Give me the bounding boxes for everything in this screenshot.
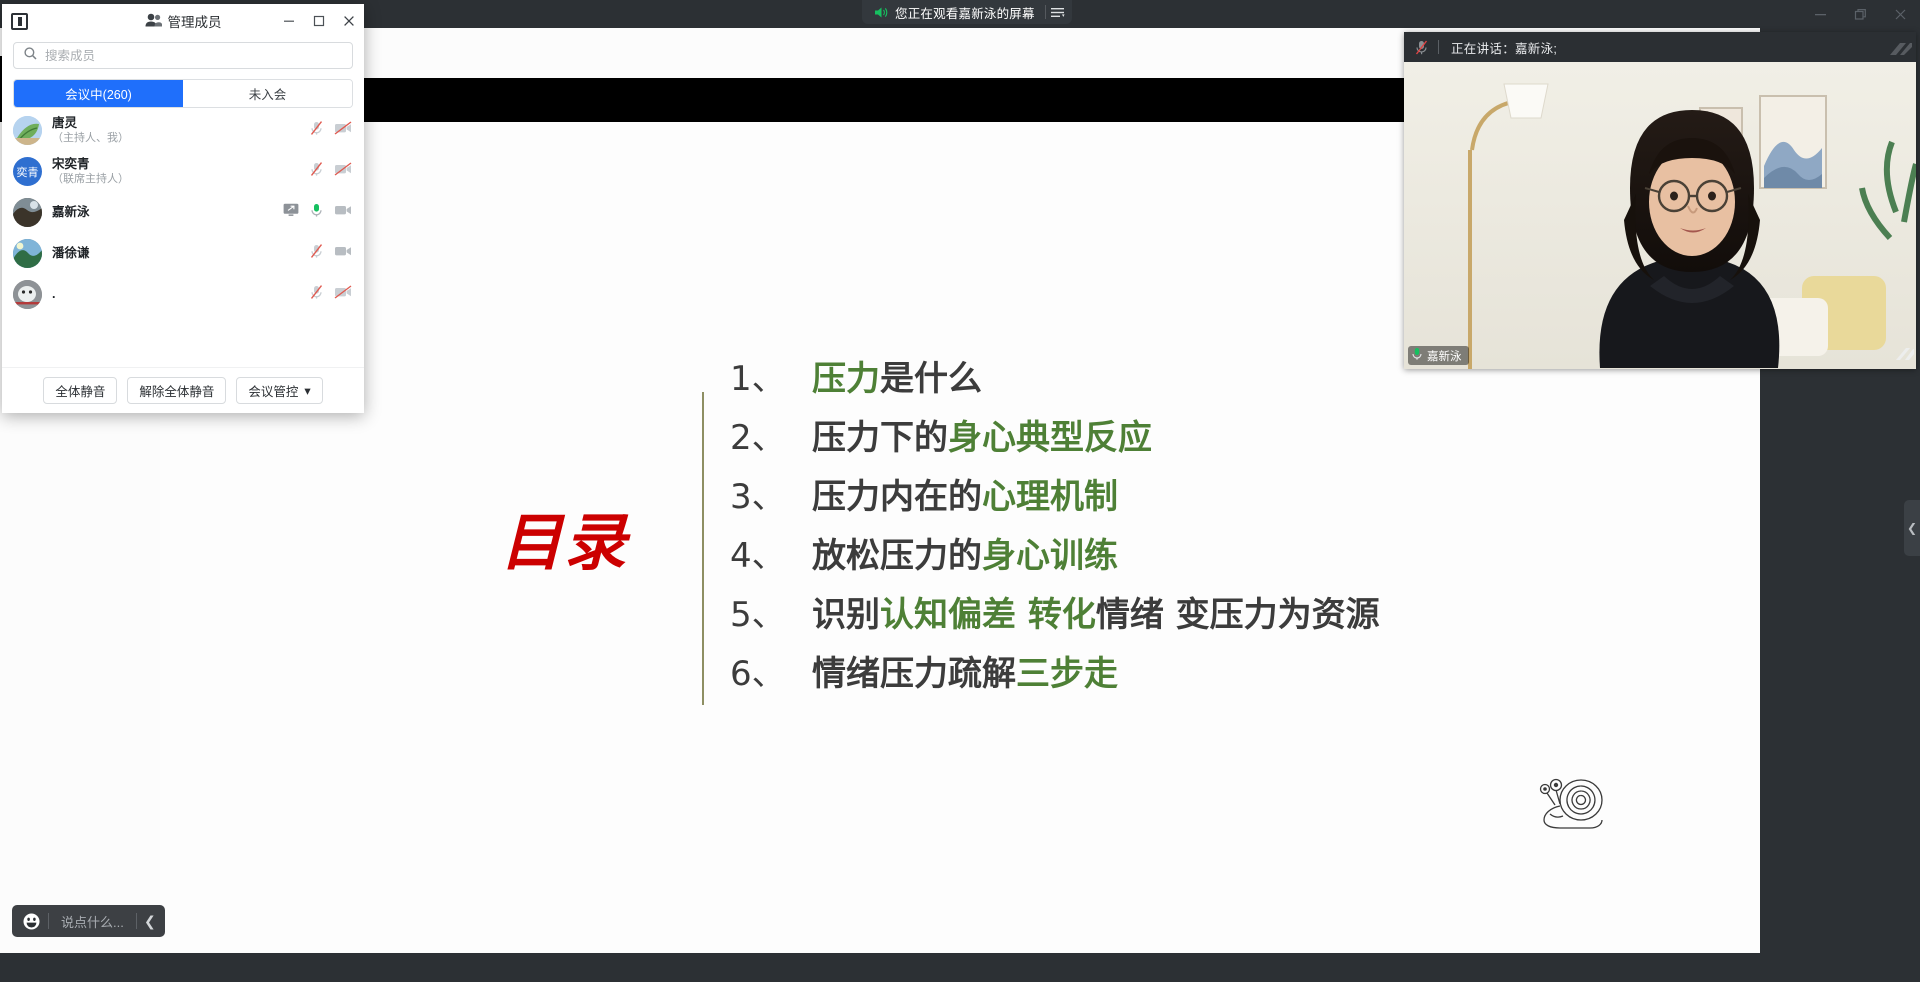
speaker-icon: [864, 6, 895, 19]
snail-illustration: [1536, 770, 1608, 832]
speaker-video-panel[interactable]: 正在讲话：嘉新泳;: [1404, 32, 1916, 369]
participants-window-titlebar[interactable]: 管理成员: [2, 4, 364, 38]
chat-input-placeholder[interactable]: 说点什么...: [49, 912, 136, 931]
video-name-tag: 嘉新泳: [1408, 346, 1469, 365]
screen-share-icon[interactable]: [283, 203, 299, 222]
window-close-button[interactable]: [1880, 0, 1920, 28]
app-root: 目录 1、压力是什么2、压力下的身心典型反应3、压力内在的心理机制4、放松压力的…: [0, 0, 1920, 982]
mic-on-icon[interactable]: [309, 202, 324, 223]
slide-title: 目录: [500, 492, 628, 582]
more-menu-icon[interactable]: [1046, 0, 1070, 24]
search-icon: [24, 47, 37, 65]
participant-name: 潘徐谦: [52, 246, 309, 262]
meeting-control-label: 会议管控: [248, 381, 298, 400]
participant-role: （主持人、我）: [52, 131, 309, 145]
slide-divider: [702, 392, 704, 705]
avatar: 奕青: [13, 157, 42, 186]
participant-role: （联席主持人）: [52, 172, 309, 186]
mic-muted-icon[interactable]: [309, 243, 324, 264]
slide-toc-item: 5、识别认知偏差 转化情绪 变压力为资源: [730, 598, 1710, 632]
participant-status-icons: [309, 284, 352, 305]
slide-toc-item: 3、压力内在的心理机制: [730, 480, 1710, 514]
slide-toc-text: 三步走: [1016, 657, 1118, 691]
slide-toc-item: 4、放松压力的身心训练: [730, 539, 1710, 573]
slide-toc-item: 6、情绪压力疏解三步走: [730, 657, 1710, 691]
participant-status-icons: [309, 243, 352, 264]
slide-toc-number: 2、: [730, 421, 812, 455]
camera-muted-icon[interactable]: [334, 162, 352, 181]
slide-toc-text: 压力下的: [812, 421, 948, 455]
participant-name-block: .: [52, 287, 309, 303]
slide-toc-number: 3、: [730, 480, 812, 514]
video-name-tag-label: 嘉新泳: [1427, 348, 1462, 364]
slide-toc-text: 压力: [812, 362, 880, 396]
participant-name: 嘉新泳: [52, 205, 283, 221]
participant-row[interactable]: 奕青宋奕青（联席主持人）: [2, 151, 364, 192]
chat-collapse-icon[interactable]: ❮: [137, 905, 163, 937]
mic-muted-icon[interactable]: [1404, 39, 1438, 56]
slide-toc-item: 2、压力下的身心典型反应: [730, 421, 1710, 455]
participant-name: 宋奕青: [52, 157, 309, 173]
participants-maximize-button[interactable]: [304, 4, 334, 38]
participants-footer[interactable]: 全体静音 解除全体静音 会议管控 ▾: [2, 367, 364, 413]
slide-toc-text: 心理机制: [982, 480, 1118, 514]
avatar: [13, 198, 42, 227]
participants-close-button[interactable]: [334, 4, 364, 38]
participant-row[interactable]: 潘徐谦: [2, 233, 364, 274]
mic-muted-icon[interactable]: [309, 120, 324, 141]
chat-input-bar[interactable]: 说点什么... ❮: [12, 905, 165, 937]
mic-on-icon: [1411, 347, 1423, 364]
chevron-down-icon: ▾: [304, 383, 310, 398]
video-panel-header[interactable]: 正在讲话：嘉新泳;: [1404, 32, 1916, 62]
emoji-smile-icon[interactable]: [14, 905, 48, 937]
slide-toc-text: 是什么: [880, 362, 982, 396]
participant-name: 唐灵: [52, 116, 309, 132]
participant-row[interactable]: 唐灵（主持人、我）: [2, 110, 364, 151]
slide-toc-number: 6、: [730, 657, 812, 691]
sharing-status-banner[interactable]: 您正在观看嘉新泳的屏幕: [862, 0, 1072, 24]
avatar: [13, 239, 42, 268]
slide-toc-text: 身心典型反应: [948, 421, 1152, 455]
slide-toc-text: 情绪 变压力为资源: [1096, 598, 1380, 632]
participants-list[interactable]: 唐灵（主持人、我）奕青宋奕青（联席主持人）嘉新泳潘徐谦.: [2, 110, 364, 367]
video-frame-image: [1404, 62, 1916, 369]
participant-row[interactable]: 嘉新泳: [2, 192, 364, 233]
avatar: [13, 116, 42, 145]
camera-muted-icon[interactable]: [334, 285, 352, 304]
participant-name-block: 嘉新泳: [52, 205, 283, 221]
slide-toc-text: 压力内在的: [812, 480, 982, 514]
participant-name-block: 宋奕青（联席主持人）: [52, 157, 309, 187]
panel-collapse-tab[interactable]: ❮: [1904, 500, 1920, 556]
participants-tab-1[interactable]: 未入会: [183, 80, 352, 107]
avatar: [13, 280, 42, 309]
slide-toc-text: 识别: [812, 598, 880, 632]
slide-toc-number: 4、: [730, 539, 812, 573]
window-controls[interactable]: [1800, 0, 1920, 28]
participants-window-title: 管理成员: [168, 11, 222, 31]
speaking-now-label: 正在讲话：嘉新泳;: [1439, 38, 1557, 57]
slide-toc-text: 放松压力的: [812, 539, 982, 573]
participants-window[interactable]: 管理成员 会议中(2: [2, 4, 364, 413]
participant-name-block: 唐灵（主持人、我）: [52, 116, 309, 146]
unmute-all-button[interactable]: 解除全体静音: [127, 377, 226, 404]
participant-status-icons: [283, 202, 352, 223]
participants-tab-0[interactable]: 会议中(260): [14, 80, 183, 107]
mic-muted-icon[interactable]: [309, 161, 324, 182]
slide-toc-list: 1、压力是什么2、压力下的身心典型反应3、压力内在的心理机制4、放松压力的身心训…: [730, 362, 1710, 716]
meeting-control-button[interactable]: 会议管控 ▾: [236, 377, 322, 404]
participants-window-controls[interactable]: [274, 4, 364, 38]
panel-resize-grip-bottom[interactable]: [1892, 342, 1914, 367]
search-input[interactable]: [45, 49, 342, 63]
slide-toc-number: 5、: [730, 598, 812, 632]
participant-name: .: [52, 287, 309, 303]
sharing-status-text: 您正在观看嘉新泳的屏幕: [895, 3, 1045, 22]
slide-toc-number: 1、: [730, 362, 812, 396]
camera-muted-icon[interactable]: [334, 121, 352, 140]
video-stream: 嘉新泳: [1404, 62, 1916, 369]
slide-toc-text: 认知偏差 转化: [880, 598, 1096, 632]
slide-toc-text: 情绪压力疏解: [812, 657, 1016, 691]
window-minimize-button[interactable]: [1800, 0, 1840, 28]
camera-off-icon[interactable]: [334, 244, 352, 263]
slide-toc-text: 身心训练: [982, 539, 1118, 573]
participants-tabs[interactable]: 会议中(260)未入会: [13, 79, 353, 108]
window-restore-button[interactable]: [1840, 0, 1880, 28]
participant-status-icons: [309, 120, 352, 141]
mute-all-button[interactable]: 全体静音: [43, 377, 117, 404]
participant-search-field[interactable]: [13, 42, 353, 69]
participant-row[interactable]: .: [2, 274, 364, 315]
participant-status-icons: [309, 161, 352, 182]
camera-off-icon[interactable]: [334, 203, 352, 222]
app-logo-icon: [11, 13, 28, 30]
participants-minimize-button[interactable]: [274, 4, 304, 38]
participant-name-block: 潘徐谦: [52, 246, 309, 262]
people-icon: [145, 13, 162, 30]
mic-muted-icon[interactable]: [309, 284, 324, 305]
panel-resize-grip-top[interactable]: [1884, 35, 1912, 62]
